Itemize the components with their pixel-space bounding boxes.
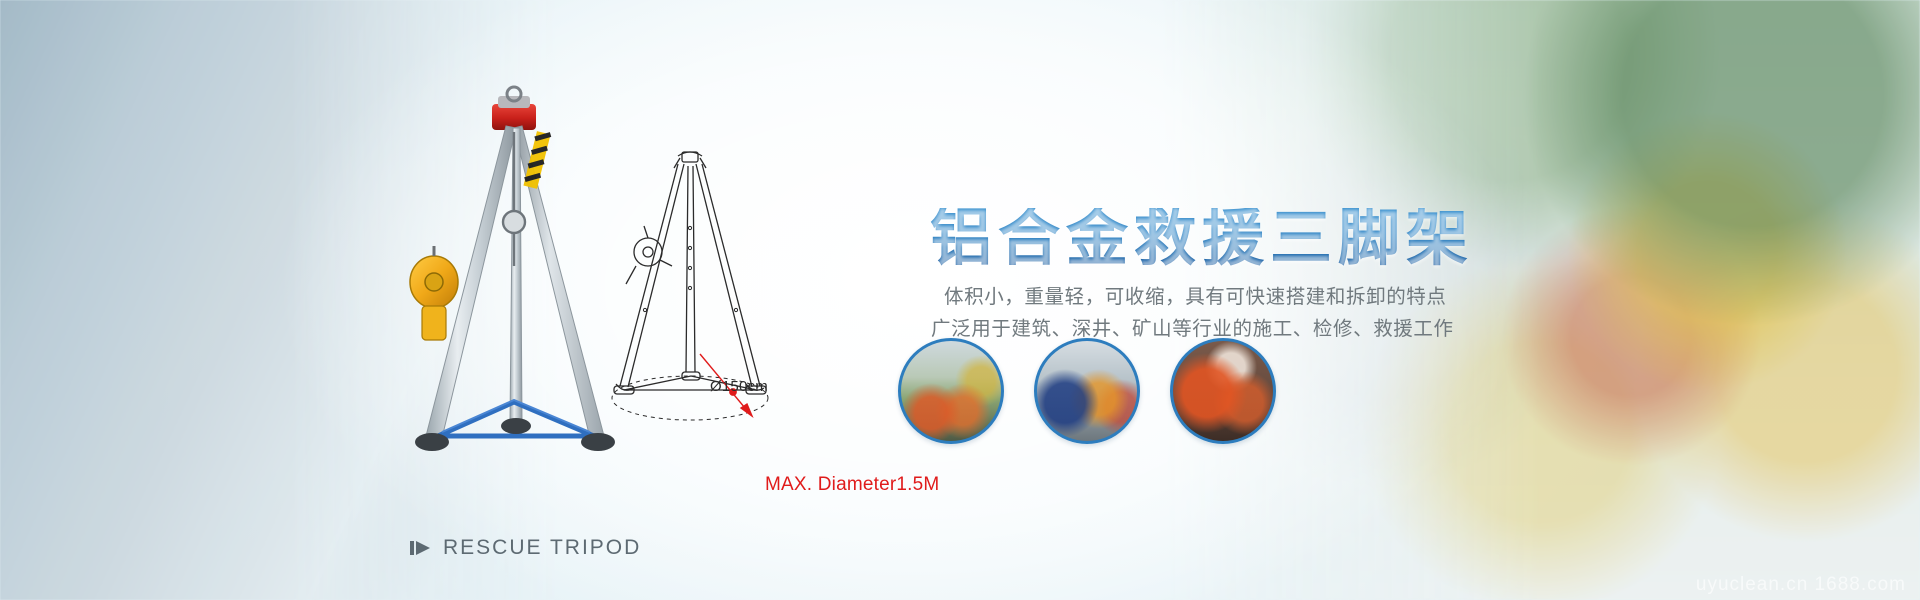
diameter-dimension-label: Ø150cm [710,378,768,395]
confined-space-rescue-photo[interactable] [1170,338,1276,444]
subtitle-line-1: 体积小，重量轻，可收缩，具有可快速搭建和拆卸的特点 [944,280,1447,309]
product-caption: RESCUE TRIPOD [410,536,641,560]
thumbnail-gallery [898,338,1276,444]
product-caption-label: RESCUE TRIPOD [443,536,641,560]
tripod-line-drawing [600,140,780,440]
page-title: 铝合金救援三脚架 [930,208,1474,270]
play-triangle-icon [410,538,432,558]
max-diameter-label: MAX. Diameter1.5M [765,474,939,496]
rescue-tripod-banner: RESCUE TRIPOD [0,0,1920,600]
subtitle-line-2: 广泛用于建筑、深井、矿山等行业的施工、检修、救援工作 [931,312,1454,341]
worksite-inspection-photo[interactable] [1034,338,1140,444]
field-rescue-tripod-photo[interactable] [898,338,1004,444]
